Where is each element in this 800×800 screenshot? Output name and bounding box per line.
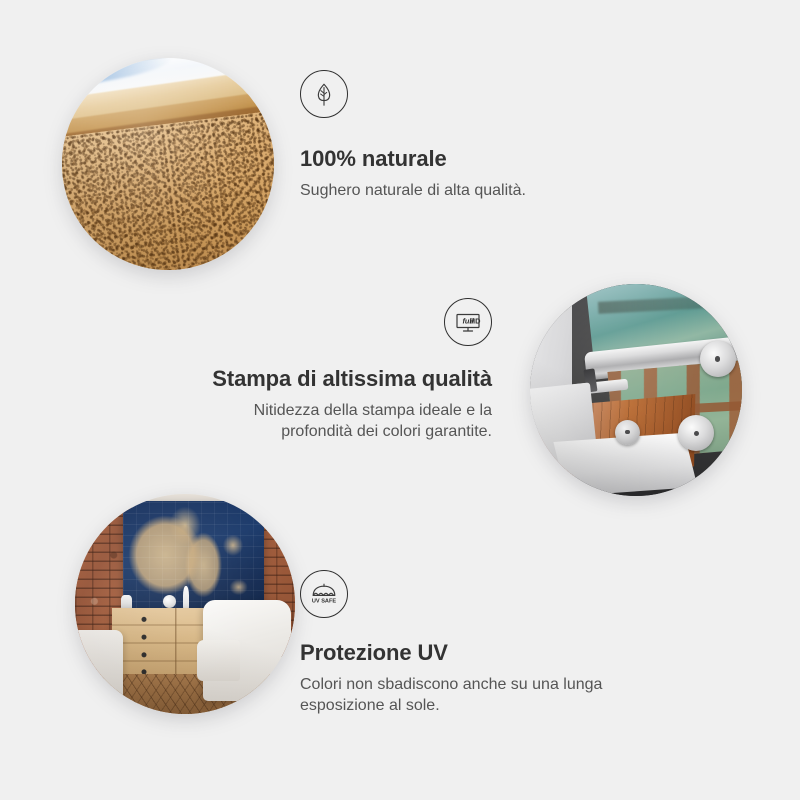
feature-natural-title: 100% naturale [300, 146, 526, 172]
umbrella-uv-safe-icon: UV SAFE [300, 570, 348, 618]
feature-showcase-canvas: 100% naturale Sughero naturale di alta q… [0, 0, 800, 800]
feature-print-icon-wrap: full HD [182, 298, 492, 346]
feature-natural-description: Sughero naturale di alta qualità. [300, 180, 526, 201]
feature-print-quality: full HD Stampa di altissima qualità Niti… [182, 298, 492, 442]
printing-machine-photo [530, 284, 742, 496]
printer-photo-shading [530, 284, 742, 496]
leaf-icon [300, 70, 348, 118]
printer-photo-content [530, 284, 742, 496]
svg-text:HD: HD [470, 316, 481, 325]
feature-uv-description-line-2: esposizione al sole. [300, 695, 670, 716]
feature-print-description-line-1: Nitidezza della stampa ideale e la [182, 400, 492, 421]
cork-photo-content [62, 58, 274, 270]
feature-uv-description-line-1: Colori non sbadiscono anche su una lunga [300, 674, 670, 695]
feature-uv-protection: UV SAFE Protezione UV Colori non sbadisc… [300, 570, 670, 716]
fullhd-monitor-icon: full HD [444, 298, 492, 346]
cork-photo-shading [62, 58, 274, 270]
feature-print-title: Stampa di altissima qualità [182, 366, 492, 392]
interior-world-map-photo [75, 494, 295, 714]
feature-print-description-line-2: profondità dei colori garantite. [182, 421, 492, 442]
uv-safe-label: UV SAFE [312, 599, 337, 605]
interior-photo-content [75, 494, 295, 714]
interior-photo-shading [75, 494, 295, 714]
feature-natural: 100% naturale Sughero naturale di alta q… [300, 70, 526, 201]
feature-uv-title: Protezione UV [300, 640, 670, 666]
cork-texture-photo [62, 58, 274, 270]
